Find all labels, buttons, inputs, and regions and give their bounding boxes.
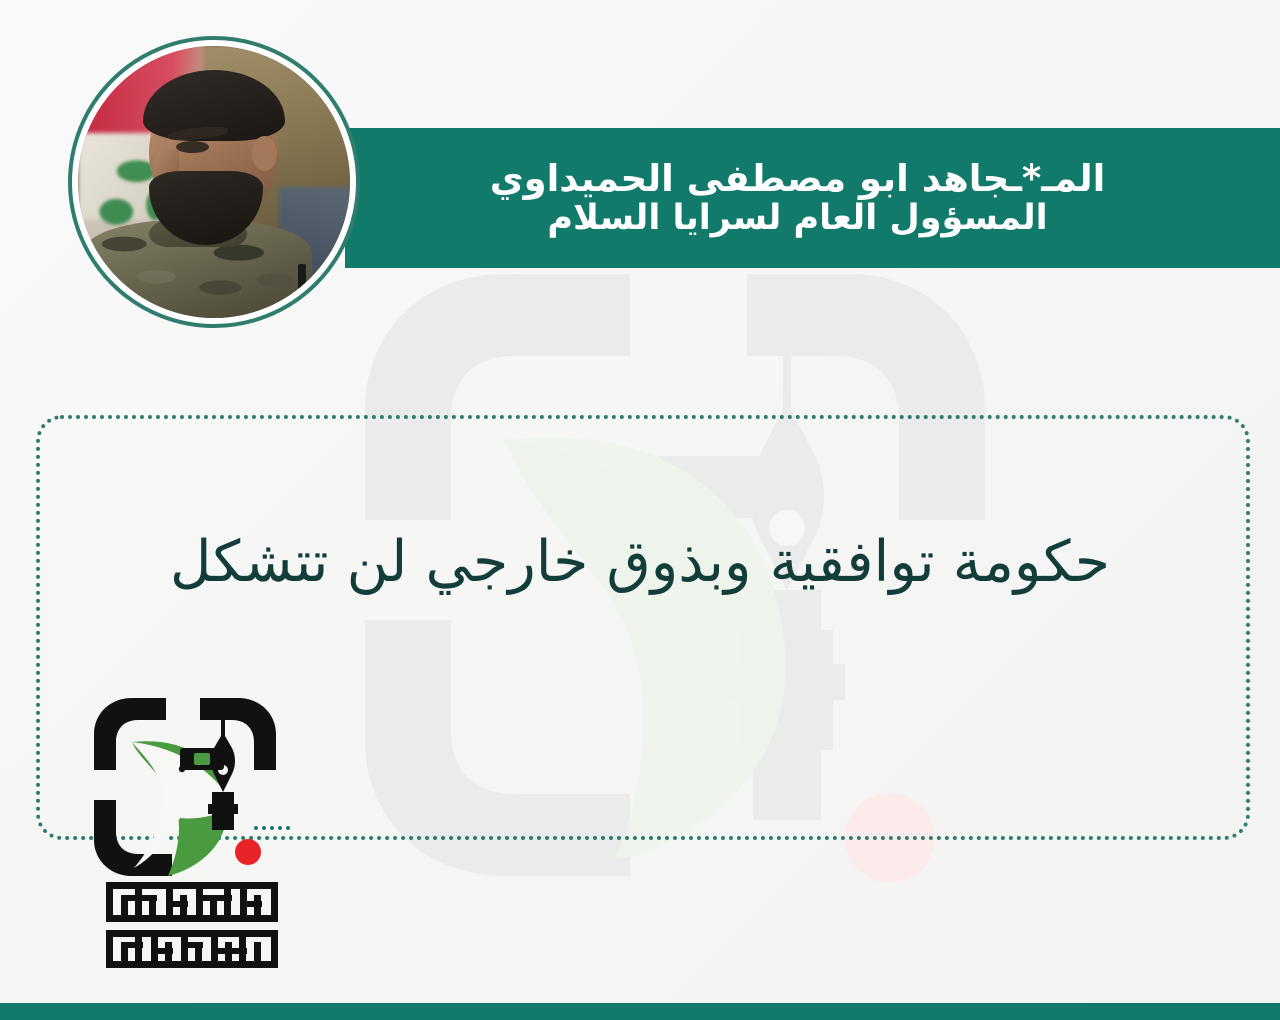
bottom-accent-bar [0, 1003, 1280, 1020]
logo-kufic-line1 [106, 882, 278, 922]
dotted-tail [254, 826, 290, 830]
red-dot-icon [235, 839, 261, 865]
subject-name: المـ*ـجاهد ابو مصطفى الحميداوي [490, 158, 1106, 199]
portrait-photo-icon [78, 46, 350, 318]
grip-block [180, 748, 224, 770]
quote-text: حكومة توافقية وبذوق خارجي لن تتشكل [40, 527, 1240, 598]
ear [252, 136, 276, 171]
avatar [68, 36, 360, 328]
pocket-pen-icon [298, 264, 306, 302]
quote-card: المـ*ـجاهد ابو مصطفى الحميداوي المسؤول ا… [0, 0, 1280, 1020]
header-band: المـ*ـجاهد ابو مصطفى الحميداوي المسؤول ا… [345, 128, 1280, 268]
subject-role: المسؤول العام لسرايا السلام [547, 199, 1047, 238]
logo-kufic-line2 [106, 930, 278, 968]
organization-logo [88, 690, 296, 968]
